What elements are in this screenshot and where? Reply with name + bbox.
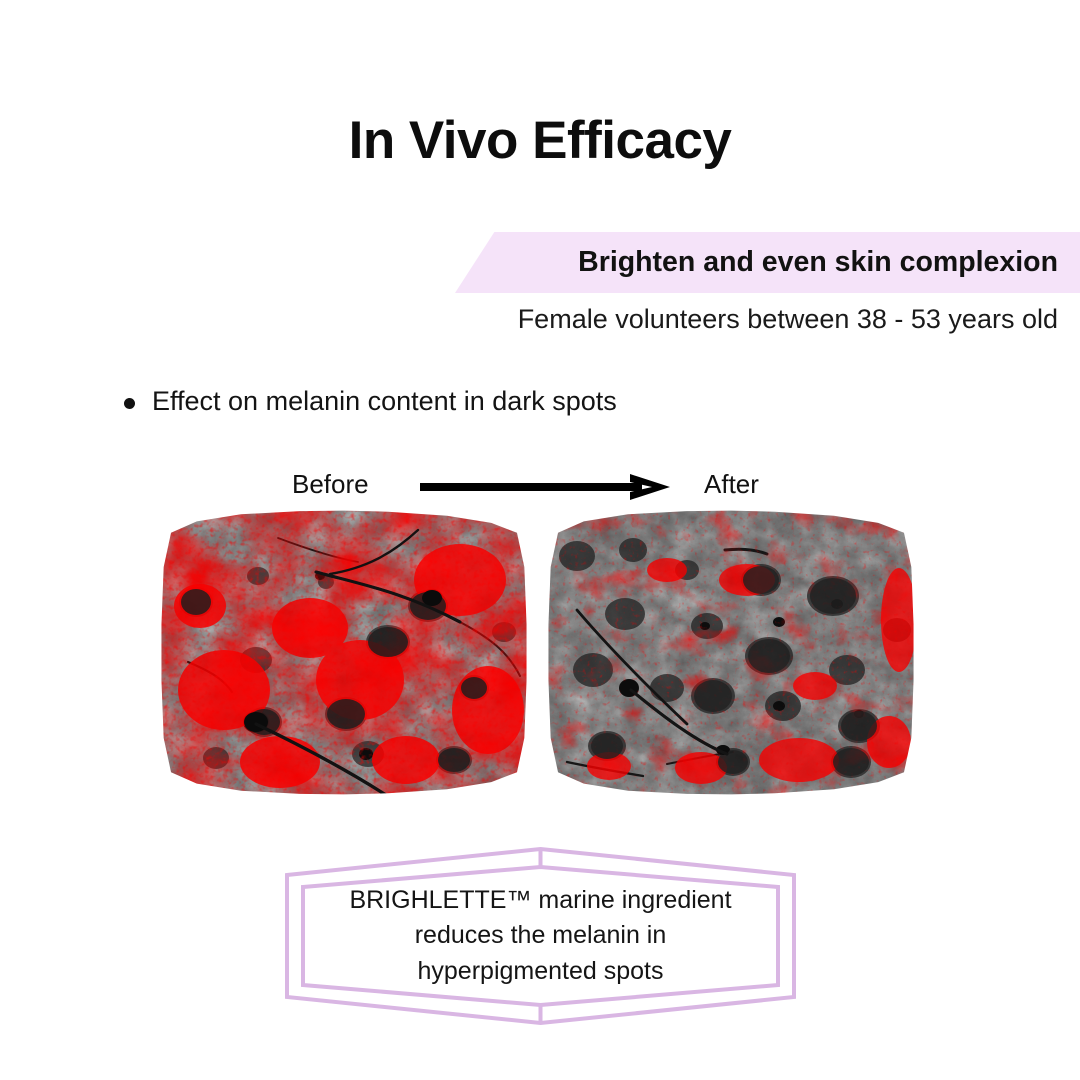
bullet-item-label: Effect on melanin content in dark spots <box>152 385 617 419</box>
subtitle-text: Female volunteers between 38 - 53 years … <box>0 303 1058 335</box>
after-image-panel <box>547 510 915 795</box>
comparison-labels: Before After <box>0 468 1080 508</box>
highlight-banner: Brighten and even skin complexion <box>455 232 1080 293</box>
bullet-item: Effect on melanin content in dark spots <box>124 385 617 419</box>
slide-canvas: In Vivo Efficacy Brighten and even skin … <box>0 0 1080 1080</box>
callout-box: BRIGHLETTE™ marine ingredient reduces th… <box>283 845 798 1027</box>
before-image-panel <box>160 510 528 795</box>
after-label: After <box>704 468 759 502</box>
before-label: Before <box>292 468 369 502</box>
right-arrow-icon <box>420 472 670 502</box>
callout-text-block: BRIGHLETTE™ marine ingredient reduces th… <box>283 845 798 1027</box>
before-micrograph <box>160 510 528 795</box>
bullet-dot-icon <box>124 398 135 409</box>
callout-line-3: hyperpigmented spots <box>418 954 664 990</box>
callout-line-1: BRIGHLETTE™ marine ingredient <box>349 883 731 919</box>
highlight-banner-label: Brighten and even skin complexion <box>578 248 1058 277</box>
after-micrograph <box>547 510 915 795</box>
callout-line-2: reduces the melanin in <box>415 918 667 954</box>
page-title: In Vivo Efficacy <box>0 112 1080 170</box>
